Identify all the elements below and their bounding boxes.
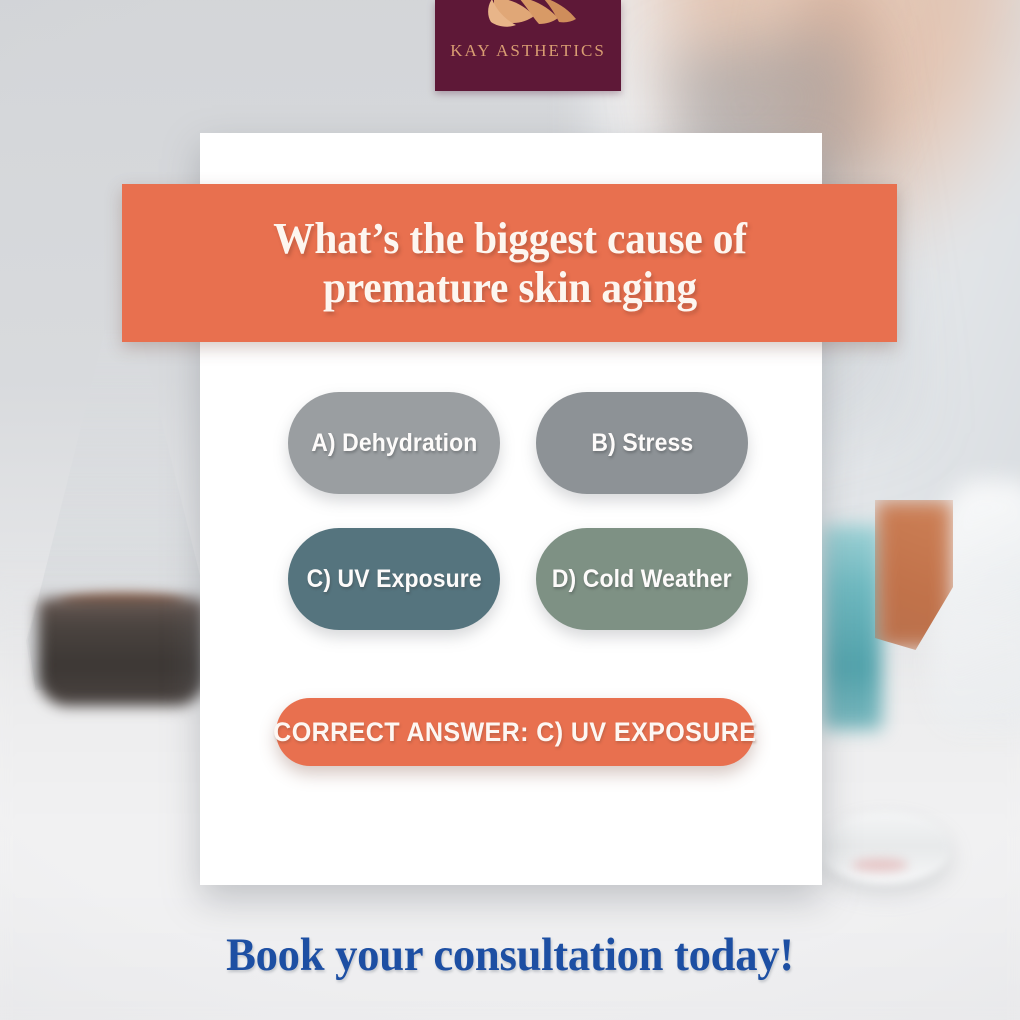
- option-pill-b[interactable]: B) Stress: [536, 392, 748, 494]
- option-label-b: B) Stress: [591, 429, 693, 458]
- option-pill-a[interactable]: A) Dehydration: [288, 392, 500, 494]
- option-pill-d[interactable]: D) Cold Weather: [536, 528, 748, 630]
- brand-logo-plate: KAY ASTHETICS: [435, 0, 621, 91]
- question-banner: What’s the biggest cause of premature sk…: [122, 184, 897, 342]
- poster-canvas: KAY ASTHETICS What’s the biggest cause o…: [0, 0, 1020, 1020]
- question-text: What’s the biggest cause of premature sk…: [184, 214, 834, 313]
- brand-wordmark: KAY ASTHETICS: [450, 41, 606, 61]
- option-pill-c[interactable]: C) UV Exposure: [288, 528, 500, 630]
- correct-answer-bar: CORRECT ANSWER: C) UV EXPOSURE: [276, 698, 754, 766]
- option-label-c: C) UV Exposure: [306, 565, 481, 594]
- option-label-a: A) Dehydration: [311, 429, 477, 458]
- cta-text: Book your consultation today!: [26, 928, 995, 982]
- option-label-d: D) Cold Weather: [552, 565, 732, 594]
- answer-options-grid: A) Dehydration B) Stress C) UV Exposure …: [288, 392, 748, 630]
- feather-wing-icon: [480, 0, 576, 39]
- correct-answer-text: CORRECT ANSWER: C) UV EXPOSURE: [273, 717, 756, 748]
